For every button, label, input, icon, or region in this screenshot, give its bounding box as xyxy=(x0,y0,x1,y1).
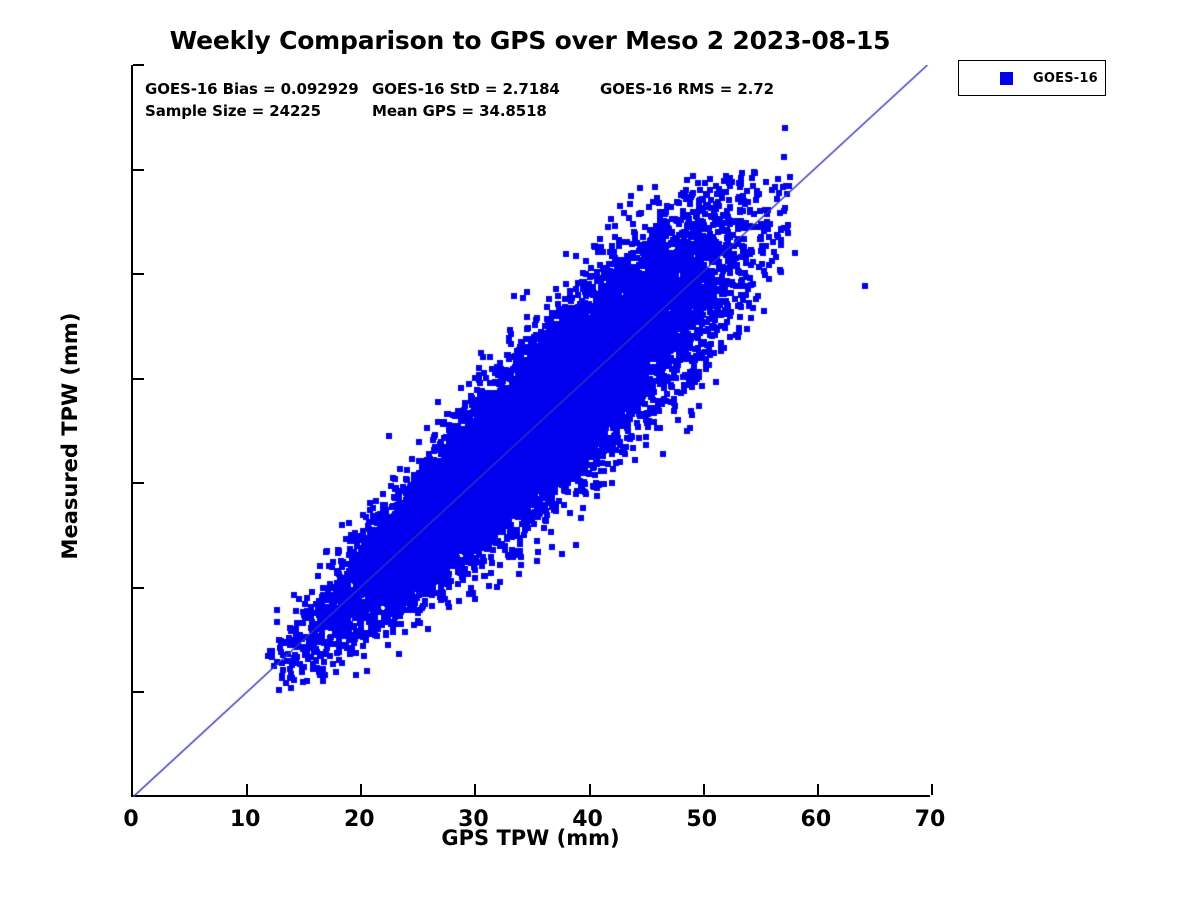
x-axis-title: GPS TPW (mm) xyxy=(131,826,930,850)
scatter-plot-canvas xyxy=(133,65,932,797)
y-tick-mark xyxy=(133,482,144,484)
stat-bias: GOES-16 Bias = 0.092929 xyxy=(145,80,359,98)
x-tick-mark xyxy=(360,784,362,795)
legend-marker-icon xyxy=(1000,72,1013,85)
x-tick-mark xyxy=(931,784,933,795)
y-tick-mark xyxy=(133,378,144,380)
y-tick-mark xyxy=(133,169,144,171)
y-tick-mark xyxy=(133,691,144,693)
x-tick-mark xyxy=(589,784,591,795)
page-title: Weekly Comparison to GPS over Meso 2 202… xyxy=(0,26,1060,55)
y-tick-mark xyxy=(133,273,144,275)
y-tick-mark xyxy=(133,587,144,589)
legend-item-label: GOES-16 xyxy=(1033,71,1098,86)
plot-area xyxy=(131,65,930,797)
x-tick-mark xyxy=(474,784,476,795)
stat-mean-gps: Mean GPS = 34.8518 xyxy=(372,102,547,120)
x-tick-mark xyxy=(246,784,248,795)
x-tick-mark xyxy=(703,784,705,795)
stat-std: GOES-16 StD = 2.7184 xyxy=(372,80,560,98)
stat-rms: GOES-16 RMS = 2.72 xyxy=(600,80,774,98)
y-tick-mark xyxy=(133,64,144,66)
chart-canvas-root: Weekly Comparison to GPS over Meso 2 202… xyxy=(0,0,1200,900)
y-axis-title: Measured TPW (mm) xyxy=(58,70,82,802)
stat-sample-size: Sample Size = 24225 xyxy=(145,102,321,120)
legend: GOES-16 xyxy=(958,60,1106,96)
x-tick-mark xyxy=(817,784,819,795)
